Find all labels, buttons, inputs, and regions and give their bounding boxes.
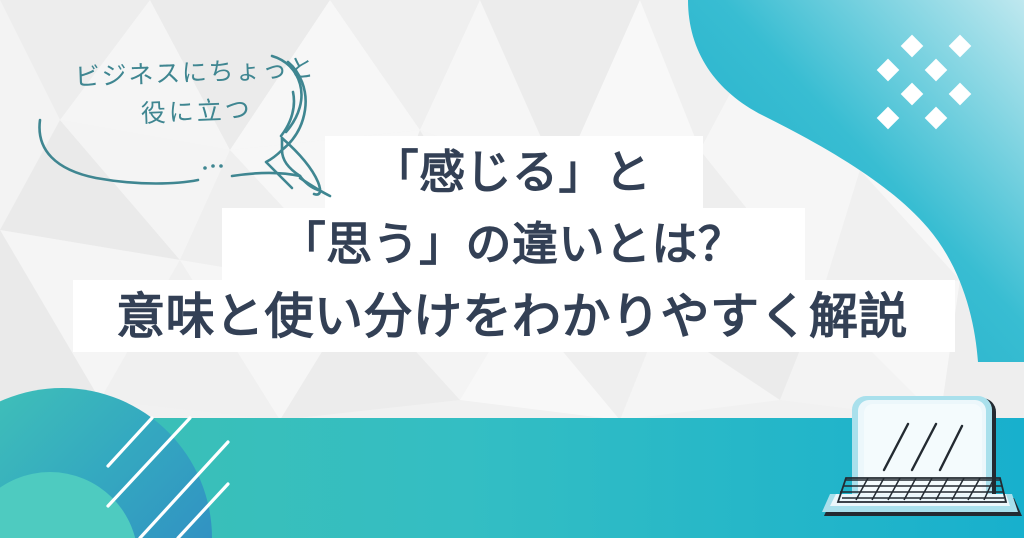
banner-canvas: ビジネスにちょっと 役に立つ 「感じる」と 「思う」の違いとは？ 意味と使い分け… (0, 0, 1024, 538)
laptop-body (822, 396, 1022, 516)
laptop-icon (0, 0, 1024, 538)
